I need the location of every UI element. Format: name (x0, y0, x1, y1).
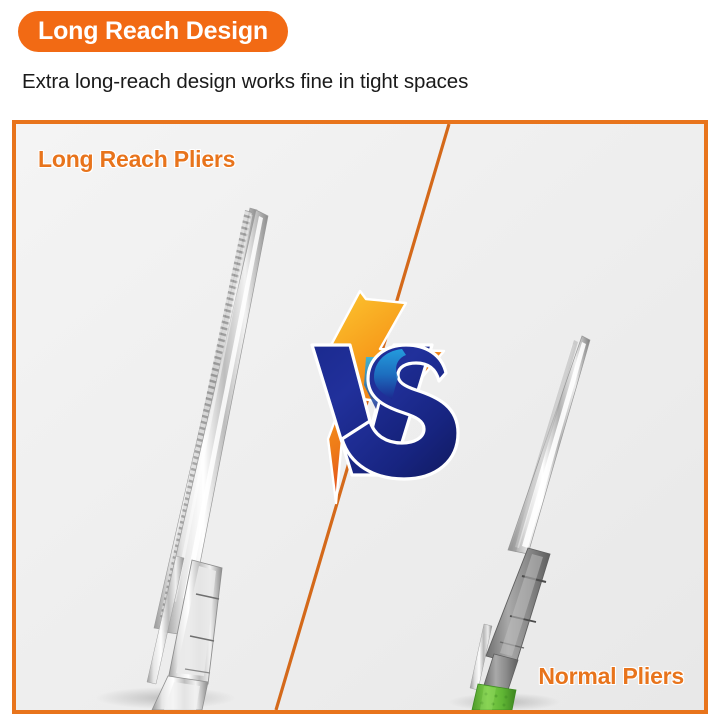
label-normal-pliers: Normal Pliers (538, 663, 684, 690)
label-long-reach-pliers: Long Reach Pliers (38, 146, 235, 173)
vs-logo (306, 289, 466, 509)
title-badge-label: Long Reach Design (38, 19, 268, 44)
subtitle-text: Extra long-reach design works fine in ti… (22, 70, 468, 94)
vs-logo-graphic (306, 289, 466, 509)
header-area: Long Reach Design Extra long-reach desig… (0, 0, 720, 120)
title-badge: Long Reach Design (18, 11, 288, 52)
comparison-panel: Long Reach Pliers Normal Pliers (12, 120, 708, 714)
